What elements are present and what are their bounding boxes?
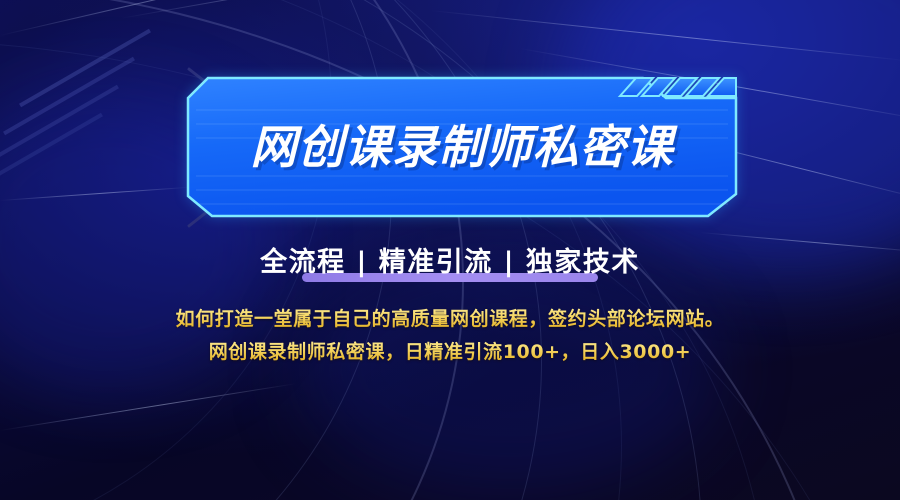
background-beam-7 bbox=[0, 383, 296, 431]
description-line-2: 网创课录制师私密课，日精准引流100+，日入3000+ bbox=[0, 336, 900, 369]
background-beam-2 bbox=[120, 0, 534, 19]
title-banner: 网创课录制师私密课 bbox=[188, 76, 736, 218]
background-slash-group-left bbox=[0, 60, 200, 240]
background-beam-3 bbox=[430, 10, 900, 61]
poster-canvas: 网创课录制师私密课 全流程 | 精准引流 | 独家技术 如何打造一堂属于自己的高… bbox=[0, 0, 900, 500]
description-line-1: 如何打造一堂属于自己的高质量网创课程，签约头部论坛网站。 bbox=[0, 303, 900, 336]
description-block: 如何打造一堂属于自己的高质量网创课程，签约头部论坛网站。 网创课录制师私密课，日… bbox=[0, 303, 900, 369]
subtitle-text: 全流程 | 精准引流 | 独家技术 bbox=[260, 240, 640, 279]
background-beam-1 bbox=[0, 0, 351, 36]
banner-stripe-cluster bbox=[620, 78, 736, 96]
banner-title-text: 网创课录制师私密课 bbox=[188, 124, 736, 170]
background-beam-8 bbox=[0, 187, 190, 201]
subtitle-block: 全流程 | 精准引流 | 独家技术 bbox=[0, 240, 900, 279]
glow-blob-center bbox=[300, 250, 720, 490]
